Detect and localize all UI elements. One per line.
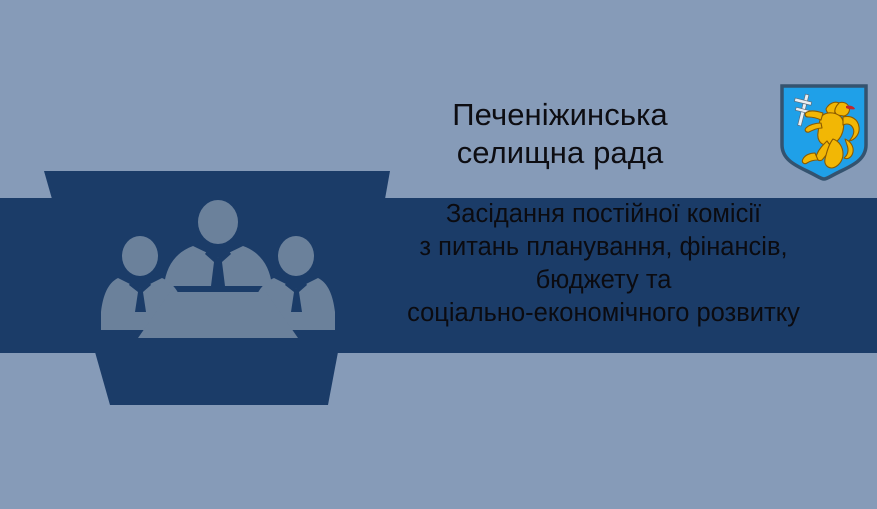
figure-left-head	[122, 236, 158, 276]
page-title: Засідання постійної комісії з питань пла…	[330, 198, 877, 330]
coat-of-arms	[779, 83, 869, 181]
organisation-name: Печеніжинська селищна рада	[360, 96, 760, 172]
banner-bottom-tab	[95, 352, 338, 405]
figure-right-head	[278, 236, 314, 276]
banner-top-tab	[44, 171, 390, 199]
committee-meeting-icon	[98, 200, 338, 348]
poster-canvas: Печеніжинська селищна рада	[0, 0, 877, 509]
figure-center-head	[198, 200, 238, 244]
